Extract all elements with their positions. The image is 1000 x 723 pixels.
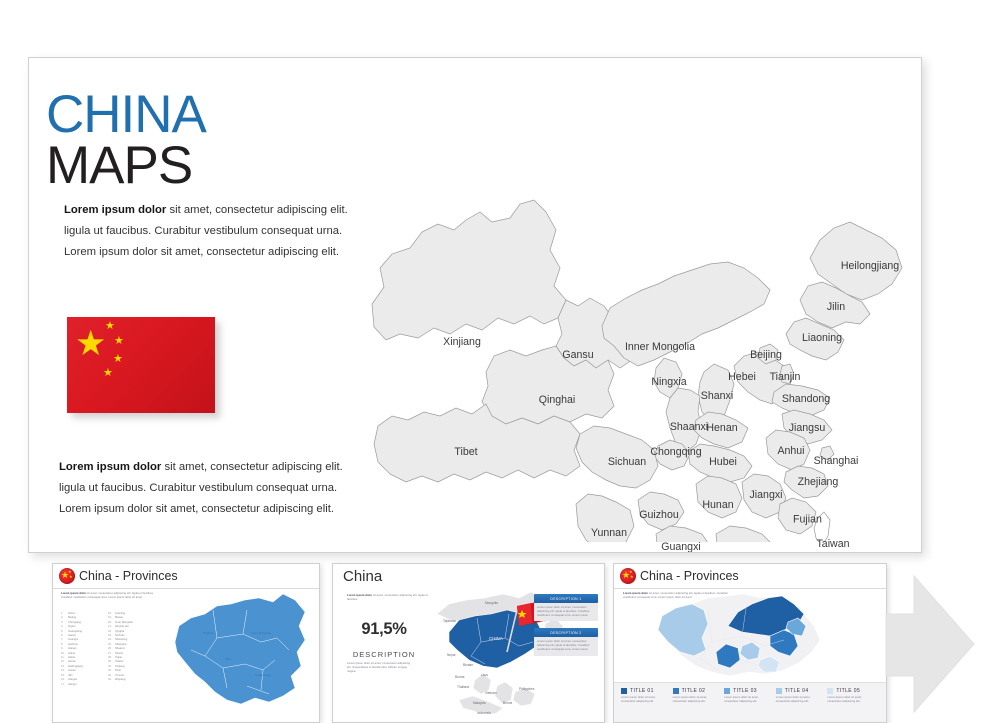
svg-text:Burma: Burma — [455, 675, 465, 679]
map-label-zhejiang: Zhejiang — [798, 476, 839, 488]
flag-star-small-3: ★ — [113, 354, 123, 365]
thumb3-header: ★ ★ ★ China - Provinces — [614, 564, 886, 589]
page-title: CHINA MAPS — [46, 90, 206, 192]
svg-text:Tajikistan: Tajikistan — [443, 619, 456, 623]
thumb3-legend: TITLE 01Lorem ipsum dolor sit amet, cons… — [614, 682, 886, 722]
svg-text:Laos: Laos — [481, 673, 488, 677]
thumb3-legend-label: TITLE 03 — [733, 688, 757, 694]
title-line-china: CHINA — [46, 90, 206, 140]
flag-star-small-4: ★ — [103, 368, 113, 379]
thumb2-description-body: Lorem ipsum dolor sit amet, consectetur … — [347, 662, 415, 674]
svg-text:Xinjiang: Xinjiang — [203, 631, 214, 635]
next-slide-arrow[interactable] — [884, 560, 996, 723]
china-flag-icon: ★ ★ ★ — [620, 568, 636, 584]
flag-icon-star-small-2: ★ — [69, 575, 73, 579]
thumb1-blue-map: XinjiangTibet Inner MongoliaGuangdong — [165, 590, 315, 716]
china-flag: ★ ★ ★ ★ ★ — [67, 317, 215, 413]
thumb3-legend-label: TITLE 01 — [630, 688, 654, 694]
thumb3-legend-swatch — [673, 688, 679, 694]
map-label-hubei: Hubei — [709, 456, 737, 468]
map-label-chongqing: Chongqing — [650, 446, 701, 458]
map-label-tianjin: Tianjin — [770, 371, 801, 383]
map-label-jiangsu: Jiangsu — [789, 422, 826, 434]
thumb1-lead-text: Lorem ipsum dolor sit amet, consectetur … — [61, 592, 157, 600]
thumb1-list-item: 33.Zhejiang — [108, 678, 155, 682]
map-label-shanghai: Shanghai — [814, 455, 859, 467]
thumb3-legend-body: Lorem ipsum dolor sit amet, consectetur … — [621, 696, 669, 704]
thumb2-percentage: 91,5% — [347, 620, 421, 639]
thumb3-legend-item-5[interactable]: TITLE 05Lorem ipsum dolor sit amet, cons… — [827, 688, 879, 722]
thumbnail-china-provinces-list[interactable]: ★ ★ ★ China - Provinces Lorem ipsum dolo… — [52, 563, 320, 723]
svg-text:Guangdong: Guangdong — [255, 673, 271, 677]
thumb3-legend-swatch — [776, 688, 782, 694]
flag-star-large: ★ — [75, 326, 106, 361]
map-label-henan: Henan — [706, 422, 737, 434]
svg-text:Nepal: Nepal — [447, 653, 456, 657]
thumb3-choropleth-map — [642, 590, 858, 682]
paragraph-bottom-bold: Lorem ipsum dolor — [59, 461, 161, 473]
thumb2-panel-1-body: Lorem ipsum dolor sit amet, consectetur … — [534, 603, 598, 621]
thumb3-legend-item-2[interactable]: TITLE 02Lorem ipsum dolor sit amet, cons… — [673, 688, 725, 722]
map-label-shaanxi: Shaanxi — [670, 421, 708, 433]
svg-text:Brunei: Brunei — [503, 701, 513, 705]
thumb3-legend-body: Lorem ipsum dolor sit amet, consectetur … — [776, 696, 824, 704]
thumb1-list-column-2: 18.Liaoning19.Macau20.Inner Mongolia21.N… — [108, 612, 155, 687]
map-label-jilin: Jilin — [827, 301, 845, 313]
description-paragraph-bottom: Lorem ipsum dolor sit amet, consectetur … — [59, 457, 344, 520]
title-line-maps: MAPS — [46, 140, 206, 192]
map-label-guangdong: Guangdong — [721, 552, 776, 553]
map-label-sichuan: Sichuan — [608, 456, 646, 468]
thumb3-legend-swatch — [827, 688, 833, 694]
paragraph-top-bold: Lorem ipsum dolor — [64, 204, 166, 216]
thumb3-legend-swatch — [724, 688, 730, 694]
svg-text:Indonesia: Indonesia — [477, 711, 491, 715]
svg-text:Philippines: Philippines — [519, 687, 535, 691]
china-map-svg — [314, 72, 914, 542]
thumb3-legend-label: TITLE 04 — [785, 688, 809, 694]
map-label-anhui: Anhui — [777, 445, 804, 457]
thumb2-description-heading: DESCRIPTION — [347, 650, 421, 659]
svg-text:Inner Mongolia: Inner Mongolia — [251, 631, 271, 635]
svg-text:Tibet: Tibet — [225, 657, 232, 661]
svg-text:Mongolia: Mongolia — [485, 601, 498, 605]
svg-text:Vietnam: Vietnam — [485, 691, 497, 695]
thumb3-legend-item-1[interactable]: TITLE 01Lorem ipsum dolor sit amet, cons… — [621, 688, 673, 722]
map-label-xinjiang: Xinjiang — [443, 336, 481, 348]
map-label-guizhou: Guizhou — [639, 509, 678, 521]
thumb3-legend-label: TITLE 02 — [682, 688, 706, 694]
description-paragraph-top: Lorem ipsum dolor sit amet, consectetur … — [64, 200, 349, 263]
svg-text:Bhutan: Bhutan — [463, 663, 473, 667]
map-label-yunnan: Yunnan — [591, 527, 627, 539]
thumb2-lead-bold: Lorem ipsum dolor — [347, 594, 372, 597]
thumb1-title: China - Provinces — [79, 569, 178, 583]
map-label-jiangxi: Jiangxi — [750, 489, 783, 501]
thumb2-panel-2[interactable]: DESCRIPTION 2 Lorem ipsum dolor sit amet… — [534, 628, 598, 655]
thumb2-panel-2-body: Lorem ipsum dolor sit amet, consectetur … — [534, 637, 598, 655]
thumb2-map-label: CHINA — [489, 636, 503, 641]
china-province-map[interactable]: XinjiangTibetQinghaiGansuInner MongoliaN… — [314, 72, 914, 542]
thumb1-list-column-1: 1.Anhui2.Beijing3.Chongqing4.Fujian5.Gua… — [61, 612, 108, 687]
thumb2-header: China — [333, 564, 604, 588]
map-label-ningxia: Ningxia — [651, 376, 686, 388]
thumb2-panel-1[interactable]: DESCRIPTION 1 Lorem ipsum dolor sit amet… — [534, 594, 598, 621]
thumb3-legend-body: Lorem ipsum dolor sit amet, consectetur … — [827, 696, 875, 704]
thumb1-province-list: 1.Anhui2.Beijing3.Chongqing4.Fujian5.Gua… — [61, 612, 155, 687]
thumb3-title: China - Provinces — [640, 569, 739, 583]
map-label-tibet: Tibet — [454, 446, 477, 458]
thumb3-legend-item-4[interactable]: TITLE 04Lorem ipsum dolor sit amet, cons… — [776, 688, 828, 722]
thumb2-title: China — [339, 568, 382, 585]
map-label-hebei: Hebei — [728, 371, 756, 383]
thumbnail-china-provinces-choropleth[interactable]: ★ ★ ★ China - Provinces Lorem ipsum dolo… — [613, 563, 887, 723]
province-shape-hunan — [696, 476, 742, 518]
thumb3-legend-body: Lorem ipsum dolor sit amet, consectetur … — [724, 696, 772, 704]
flag-star-small-2: ★ — [114, 336, 124, 347]
thumb3-legend-body: Lorem ipsum dolor sit amet, consectetur … — [673, 696, 721, 704]
thumb1-header: ★ ★ ★ China - Provinces — [53, 564, 319, 589]
flag-star-small-1: ★ — [105, 321, 115, 332]
thumb3-legend-label: TITLE 05 — [836, 688, 860, 694]
thumb3-legend-item-3[interactable]: TITLE 03Lorem ipsum dolor sit amet, cons… — [724, 688, 776, 722]
map-label-gansu: Gansu — [562, 349, 593, 361]
map-label-guangxi: Guangxi — [661, 541, 700, 553]
map-label-taiwan: Taiwan — [817, 538, 850, 550]
thumb2-panel-1-header: DESCRIPTION 1 — [534, 594, 598, 603]
map-label-beijing: Beijing — [750, 349, 782, 361]
main-slide[interactable]: CHINA MAPS Lorem ipsum dolor sit amet, c… — [28, 57, 922, 553]
map-label-shanxi: Shanxi — [701, 390, 733, 402]
map-label-qinghai: Qinghai — [539, 394, 576, 406]
map-label-inner-mongolia: Inner Mongolia — [625, 341, 695, 353]
flag-icon-star-small-2: ★ — [630, 575, 634, 579]
svg-text:Malaysia: Malaysia — [473, 701, 486, 705]
map-label-shandong: Shandong — [782, 393, 830, 405]
thumb1-lead-bold: Lorem ipsum dolor — [61, 592, 86, 595]
map-label-hunan: Hunan — [702, 499, 733, 511]
map-label-fujian: Fujian — [793, 515, 819, 526]
thumb2-panel-2-header: DESCRIPTION 2 — [534, 628, 598, 637]
china-flag-icon: ★ ★ ★ — [59, 568, 75, 584]
svg-text:Thailand: Thailand — [457, 685, 469, 689]
thumb2-description-panels: DESCRIPTION 1 Lorem ipsum dolor sit amet… — [534, 594, 598, 663]
map-label-heilongjiang: Heilongjiang — [841, 260, 899, 272]
flag-field: ★ ★ ★ ★ ★ — [67, 317, 215, 413]
province-shape-guangdong — [716, 526, 772, 542]
map-label-liaoning: Liaoning — [802, 332, 842, 344]
thumb3-legend-swatch — [621, 688, 627, 694]
province-shape-xinjiang — [372, 200, 566, 340]
thumb1-list-item: 17.Jiangxi — [61, 683, 108, 687]
thumbnail-china-asia-flagpin[interactable]: China Lorem ipsum dolor sit amet, consec… — [332, 563, 605, 723]
